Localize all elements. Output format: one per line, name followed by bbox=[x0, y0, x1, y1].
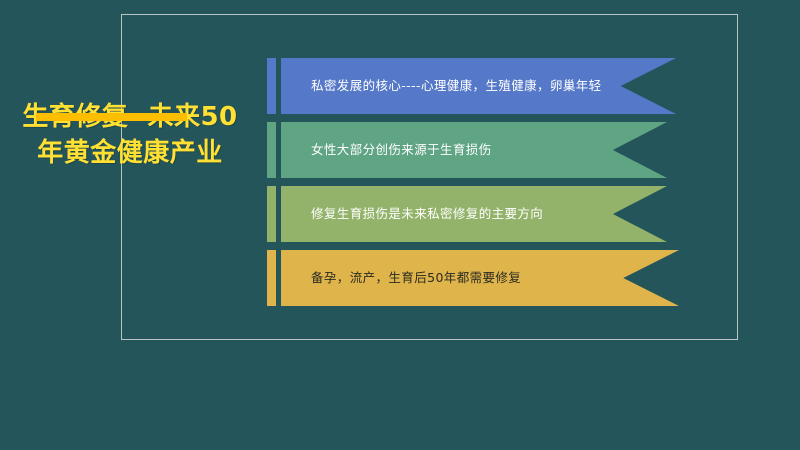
ribbon-item-4[interactable]: 备孕，流产，生育后50年都需要修复 bbox=[267, 250, 679, 306]
ribbon-body-4[interactable]: 备孕，流产，生育后50年都需要修复 bbox=[281, 250, 679, 306]
ribbon-label-4: 备孕，流产，生育后50年都需要修复 bbox=[281, 270, 591, 286]
ribbon-accent-tab-2 bbox=[267, 122, 276, 178]
ribbon-label-3: 修复生育损伤是未来私密修复的主要方向 bbox=[281, 206, 613, 222]
slide-canvas: 生育修复 未来50年黄金健康产业 私密发展的核心----心理健康，生殖健康，卵巢… bbox=[0, 0, 800, 450]
ribbon-item-3[interactable]: 修复生育损伤是未来私密修复的主要方向 bbox=[267, 186, 667, 242]
ribbon-label-1: 私密发展的核心----心理健康，生殖健康，卵巢年轻 bbox=[281, 78, 672, 94]
ribbon-item-1[interactable]: 私密发展的核心----心理健康，生殖健康，卵巢年轻 bbox=[267, 58, 676, 114]
ribbon-accent-tab-1 bbox=[267, 58, 276, 114]
ribbon-body-3[interactable]: 修复生育损伤是未来私密修复的主要方向 bbox=[281, 186, 667, 242]
ribbon-body-1[interactable]: 私密发展的核心----心理健康，生殖健康，卵巢年轻 bbox=[281, 58, 676, 114]
title-underline-bar bbox=[36, 113, 187, 121]
title-block: 生育修复 未来50年黄金健康产业 bbox=[18, 100, 242, 172]
ribbon-gap-3 bbox=[276, 186, 281, 242]
ribbon-gap-1 bbox=[276, 58, 281, 114]
ribbon-gap-2 bbox=[276, 122, 281, 178]
ribbon-accent-tab-3 bbox=[267, 186, 276, 242]
slide-title: 生育修复 未来50年黄金健康产业 bbox=[18, 100, 242, 172]
ribbon-item-2[interactable]: 女性大部分创伤来源于生育损伤 bbox=[267, 122, 667, 178]
ribbon-body-2[interactable]: 女性大部分创伤来源于生育损伤 bbox=[281, 122, 667, 178]
ribbon-accent-tab-4 bbox=[267, 250, 276, 306]
ribbon-gap-4 bbox=[276, 250, 281, 306]
ribbon-label-2: 女性大部分创伤来源于生育损伤 bbox=[281, 142, 562, 158]
